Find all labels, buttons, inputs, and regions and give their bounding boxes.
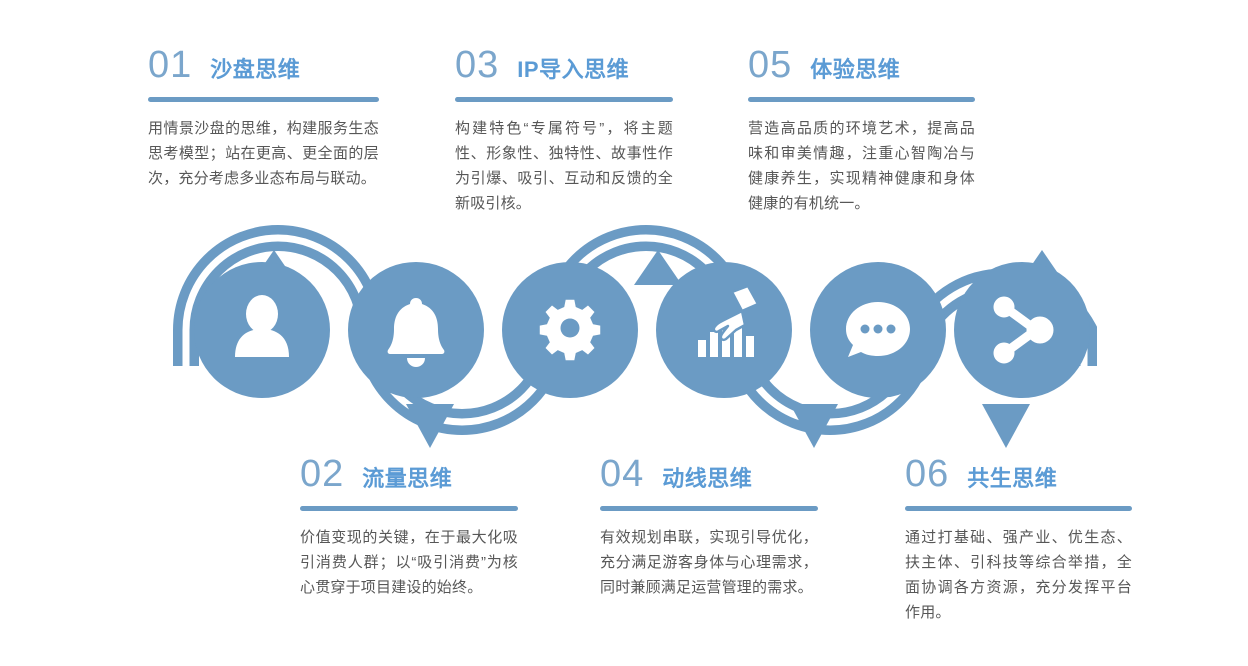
block-03: 03 IP导入思维 构建特色“专属符号”，将主题性、形象性、独特性、故事性作为引…: [455, 46, 673, 216]
block-05-head: 05 体验思维: [748, 46, 975, 84]
block-06-head: 06 共生思维: [905, 455, 1132, 493]
user-icon: [235, 295, 289, 357]
hand-chart-icon: [698, 286, 758, 357]
block-06-number: 06: [905, 455, 949, 493]
block-04: 04 动线思维 有效规划串联，实现引导优化，充分满足游客身体与心理需求，同时兼顾…: [600, 455, 818, 600]
block-06: 06 共生思维 通过打基础、强产业、优生态、扶主体、引科技等综合举措，全面协调各…: [905, 455, 1132, 625]
node-circle-3[interactable]: [502, 262, 638, 398]
block-05-title: 体验思维: [810, 59, 900, 81]
wave-ribbon: [186, 238, 1084, 422]
block-04-title: 动线思维: [662, 468, 752, 490]
block-03-number: 03: [455, 46, 499, 84]
block-01-head: 01 沙盘思维: [148, 46, 379, 84]
block-03-rule: [455, 97, 673, 102]
block-01-rule: [148, 97, 379, 102]
pointer-up-5: [1018, 250, 1066, 285]
block-02-rule: [300, 506, 518, 511]
block-03-title: IP导入思维: [517, 59, 629, 81]
wave-nodes: [194, 262, 1090, 398]
block-04-number: 04: [600, 455, 644, 493]
block-05: 05 体验思维 营造高品质的环境艺术，提高品味和审美情趣，注重心智陶冶与健康养生…: [748, 46, 975, 216]
block-03-body: 构建特色“专属符号”，将主题性、形象性、独特性、故事性作为引爆、吸引、互动和反馈…: [455, 116, 673, 216]
block-01-number: 01: [148, 46, 192, 84]
block-02: 02 流量思维 价值变现的关键，在于最大化吸引消费人群；以“吸引消费”为核心贯穿…: [300, 455, 518, 600]
block-02-number: 02: [300, 455, 344, 493]
node-circle-5[interactable]: [810, 262, 946, 398]
block-05-number: 05: [748, 46, 792, 84]
block-02-head: 02 流量思维: [300, 455, 518, 493]
pointer-down-4: [790, 404, 838, 448]
block-06-rule: [905, 506, 1132, 511]
block-01-body: 用情景沙盘的思维，构建服务生态思考模型；站在更高、更全面的层次，充分考虑多业态布…: [148, 116, 379, 191]
wave-pointers: [250, 250, 1066, 448]
block-04-rule: [600, 506, 818, 511]
pointer-down-2: [406, 404, 454, 448]
block-02-title: 流量思维: [362, 468, 452, 490]
block-04-head: 04 动线思维: [600, 455, 818, 493]
node-circle-6[interactable]: [954, 262, 1090, 398]
block-05-rule: [748, 97, 975, 102]
block-02-body: 价值变现的关键，在于最大化吸引消费人群；以“吸引消费”为核心贯穿于项目建设的始终…: [300, 525, 518, 600]
infographic-canvas: 01 沙盘思维 用情景沙盘的思维，构建服务生态思考模型；站在更高、更全面的层次，…: [0, 0, 1248, 666]
pointer-up-1: [250, 250, 298, 285]
node-circle-2[interactable]: [348, 262, 484, 398]
block-05-body: 营造高品质的环境艺术，提高品味和审美情趣，注重心智陶冶与健康养生，实现精神健康和…: [748, 116, 975, 216]
node-circle-4[interactable]: [656, 262, 792, 398]
block-01-title: 沙盘思维: [210, 59, 300, 81]
chat-bubble-icon: [846, 302, 910, 357]
block-03-head: 03 IP导入思维: [455, 46, 673, 84]
pointer-up-3: [634, 250, 682, 285]
bell-icon: [388, 298, 445, 367]
share-nodes-icon: [994, 297, 1053, 363]
pointer-down-6: [982, 404, 1030, 448]
block-06-body: 通过打基础、强产业、优生态、扶主体、引科技等综合举措，全面协调各方资源，充分发挥…: [905, 525, 1132, 625]
block-06-title: 共生思维: [967, 468, 1057, 490]
gear-icon: [540, 300, 600, 360]
node-circle-1[interactable]: [194, 262, 330, 398]
block-01: 01 沙盘思维 用情景沙盘的思维，构建服务生态思考模型；站在更高、更全面的层次，…: [148, 46, 379, 191]
block-04-body: 有效规划串联，实现引导优化，充分满足游客身体与心理需求，同时兼顾满足运营管理的需…: [600, 525, 818, 600]
